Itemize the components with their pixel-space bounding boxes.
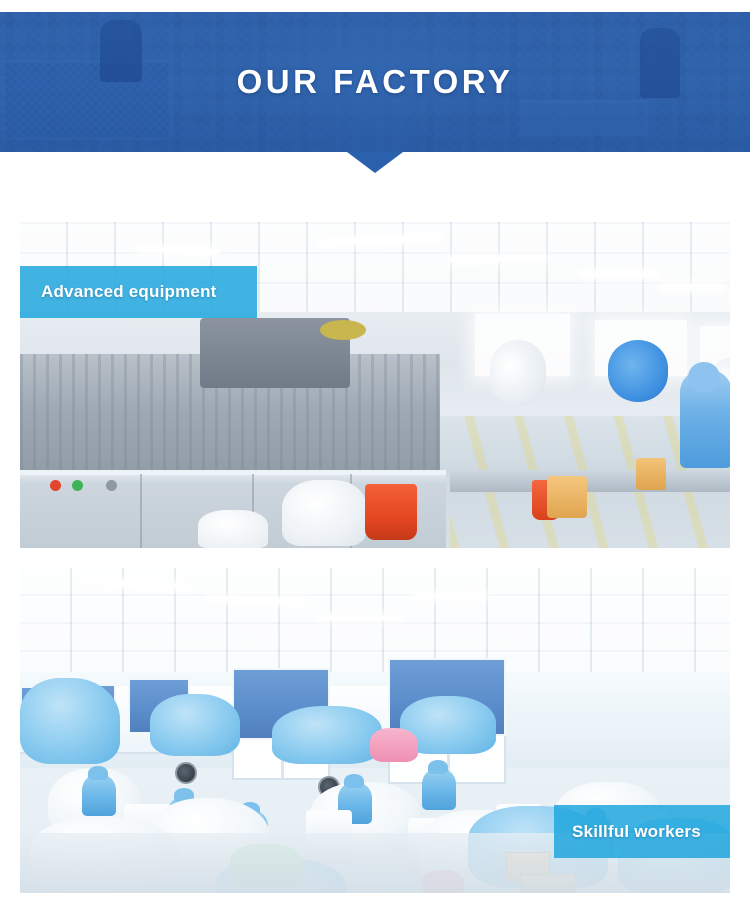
control-button-green (72, 480, 83, 491)
worker-cap (428, 760, 448, 774)
worker-cap (344, 774, 364, 788)
pink-fabric-pile (370, 728, 418, 762)
fabric-roll-blue (608, 340, 668, 402)
control-button-red (50, 480, 61, 491)
ceiling-light (660, 284, 722, 289)
machine-disc (320, 320, 366, 340)
banner-chevron-down-icon (347, 152, 403, 173)
worker (82, 774, 116, 816)
material-bag (198, 510, 268, 548)
ceiling-light (320, 616, 400, 620)
fabric-roll-white (490, 340, 546, 406)
photo-advanced-equipment: Advanced equipment (20, 222, 730, 548)
red-bucket (365, 484, 417, 540)
ceiling-light (580, 272, 658, 277)
caption-skillful-workers: Skillful workers (554, 805, 730, 858)
material-bag (282, 480, 366, 546)
stool (636, 458, 666, 490)
worker-cap (88, 766, 108, 780)
caption-advanced-equipment-label: Advanced equipment (41, 282, 217, 302)
blue-fabric-pile (20, 678, 120, 764)
cabinet-divider (140, 474, 142, 548)
conveyor-table (450, 470, 730, 492)
stool (547, 476, 587, 518)
blue-fabric-pile (150, 694, 240, 756)
caption-advanced-equipment: Advanced equipment (20, 266, 257, 318)
worker-hood (688, 362, 720, 392)
page-title: OUR FACTORY (0, 12, 750, 152)
blue-fabric-pile (272, 706, 382, 764)
worker (422, 768, 456, 810)
electric-fan (175, 762, 197, 784)
photo-skillful-workers: Skillful workers (20, 568, 730, 893)
header-banner: OUR FACTORY (0, 12, 750, 152)
control-button-grey (106, 480, 117, 491)
factory-showcase-page: OUR FACTORY (0, 0, 750, 911)
caption-skillful-workers-label: Skillful workers (572, 822, 701, 842)
